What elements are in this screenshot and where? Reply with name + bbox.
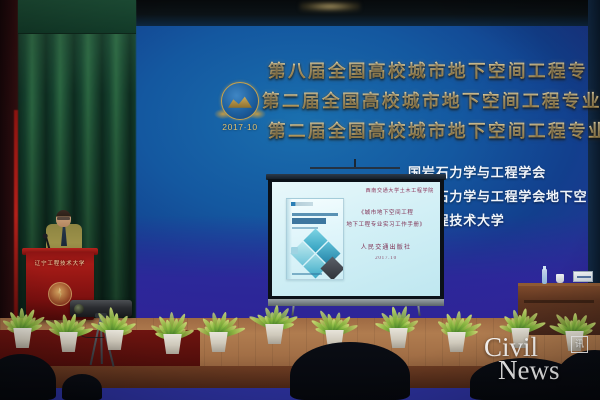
plant-pot xyxy=(104,330,125,350)
potted-plant xyxy=(0,290,44,348)
emblem-circle-icon xyxy=(221,82,259,120)
nameplate xyxy=(573,271,593,282)
plant-leaves xyxy=(376,289,420,333)
slide-title-line-1: 《城市地下空间工程 xyxy=(340,208,432,216)
plant-leaves xyxy=(552,292,596,336)
potted-plant xyxy=(498,290,542,348)
plant-pot xyxy=(208,332,229,352)
plant-pot xyxy=(446,332,467,352)
slide-text-block: 《城市地下空间工程 地下工程专业实习工作手册》 人民交通出版社 2017.10 xyxy=(340,208,432,261)
book-spine xyxy=(287,199,292,280)
banner-line-1: 第八届全国高校城市地下空间工程专 xyxy=(268,58,588,83)
book-diamond-graphic xyxy=(293,232,343,276)
potted-plant xyxy=(92,292,136,350)
plant-leaves xyxy=(46,293,90,337)
plant-pot xyxy=(388,328,409,348)
book-cover-image xyxy=(286,198,344,280)
plant-pot xyxy=(58,332,79,352)
potted-plant xyxy=(552,293,596,351)
plant-leaves xyxy=(312,291,356,335)
plant-pot xyxy=(12,328,33,348)
curtain-valance xyxy=(18,0,136,34)
book-footer-bar xyxy=(292,273,322,275)
book-publisher-logo xyxy=(291,202,313,206)
book-title-bar-1 xyxy=(292,213,338,216)
plant-pot xyxy=(264,324,285,344)
screen-hanger xyxy=(354,159,356,169)
slide-publisher: 人民交通出版社 xyxy=(340,242,432,251)
emblem-date: 2017·10 xyxy=(213,122,267,132)
plant-leaves xyxy=(92,291,136,335)
plant-pot xyxy=(564,331,585,351)
conference-emblem: 2017·10 xyxy=(213,82,267,140)
screen-frame: 西南交通大学土木工程学院 xyxy=(268,179,444,299)
plant-leaves xyxy=(196,293,240,337)
potted-plant xyxy=(46,294,90,352)
audience-silhouette xyxy=(290,342,410,400)
potted-plant xyxy=(434,294,478,352)
paper-cup xyxy=(556,274,564,283)
conference-stage-scene: 2017·10 第八届全国高校城市地下空间工程专 第二届全国高校城市地下空间工程… xyxy=(0,0,600,400)
potted-plant xyxy=(196,294,240,352)
plant-pot xyxy=(162,334,183,354)
slide-header-text: 西南交通大学土木工程学院 xyxy=(366,187,434,194)
slide-title-line-2: 地下工程专业实习工作手册》 xyxy=(340,220,432,228)
ceiling-light xyxy=(300,2,360,11)
glasses-icon xyxy=(57,217,70,220)
potted-plant xyxy=(376,290,420,348)
book-page-marker xyxy=(291,247,298,254)
water-bottle xyxy=(542,269,547,284)
lectern-label: 辽宁工程技术大学 xyxy=(26,259,94,267)
banner-line-2: 第二届全国高校城市地下空间工程专业青 xyxy=(262,88,600,113)
banner-line-3: 第二届全国高校城市地下空间工程专业大学 xyxy=(268,118,600,143)
plant-leaves xyxy=(252,285,296,329)
plant-leaves xyxy=(0,289,44,333)
book-title-bar-2 xyxy=(292,218,326,224)
plant-leaves xyxy=(498,289,542,333)
potted-plant xyxy=(150,296,194,354)
plant-pot xyxy=(510,328,531,348)
audience-silhouette xyxy=(62,374,102,400)
plant-leaves xyxy=(434,293,478,337)
potted-plant xyxy=(252,286,296,344)
slide-surface: 西南交通大学土木工程学院 xyxy=(272,182,440,296)
conference-banner: 2017·10 第八届全国高校城市地下空间工程专 第二届全国高校城市地下空间工程… xyxy=(0,30,600,160)
slide-date: 2017.10 xyxy=(340,256,432,261)
plant-leaves xyxy=(150,295,194,339)
